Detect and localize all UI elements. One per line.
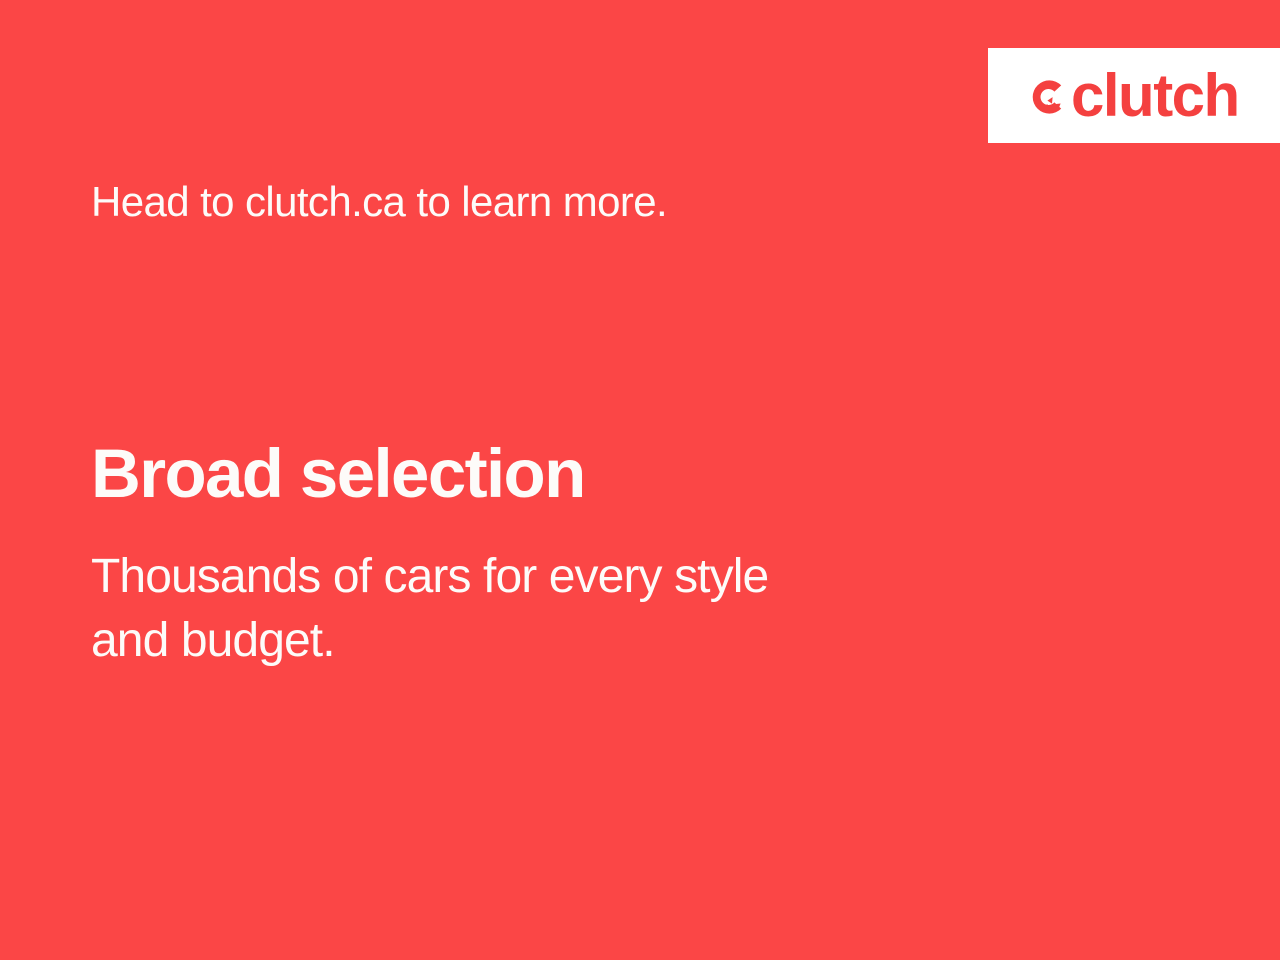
eyebrow-text: Head to clutch.ca to learn more. bbox=[91, 178, 667, 225]
headline-text: Broad selection bbox=[91, 438, 585, 510]
clutch-wordmark: clutch bbox=[1071, 66, 1239, 126]
clutch-c-wheel-icon bbox=[1025, 75, 1069, 119]
promo-slide: clutch Head to clutch.ca to learn more. … bbox=[0, 0, 1280, 960]
clutch-logo-lockup: clutch bbox=[1025, 66, 1239, 126]
subhead-line-1: Thousands of cars for every style bbox=[91, 545, 1051, 609]
subhead-text: Thousands of cars for every style and bu… bbox=[91, 545, 1051, 674]
subhead-line-2: and budget. bbox=[91, 609, 1051, 673]
brand-logo-plate: clutch bbox=[988, 48, 1280, 143]
